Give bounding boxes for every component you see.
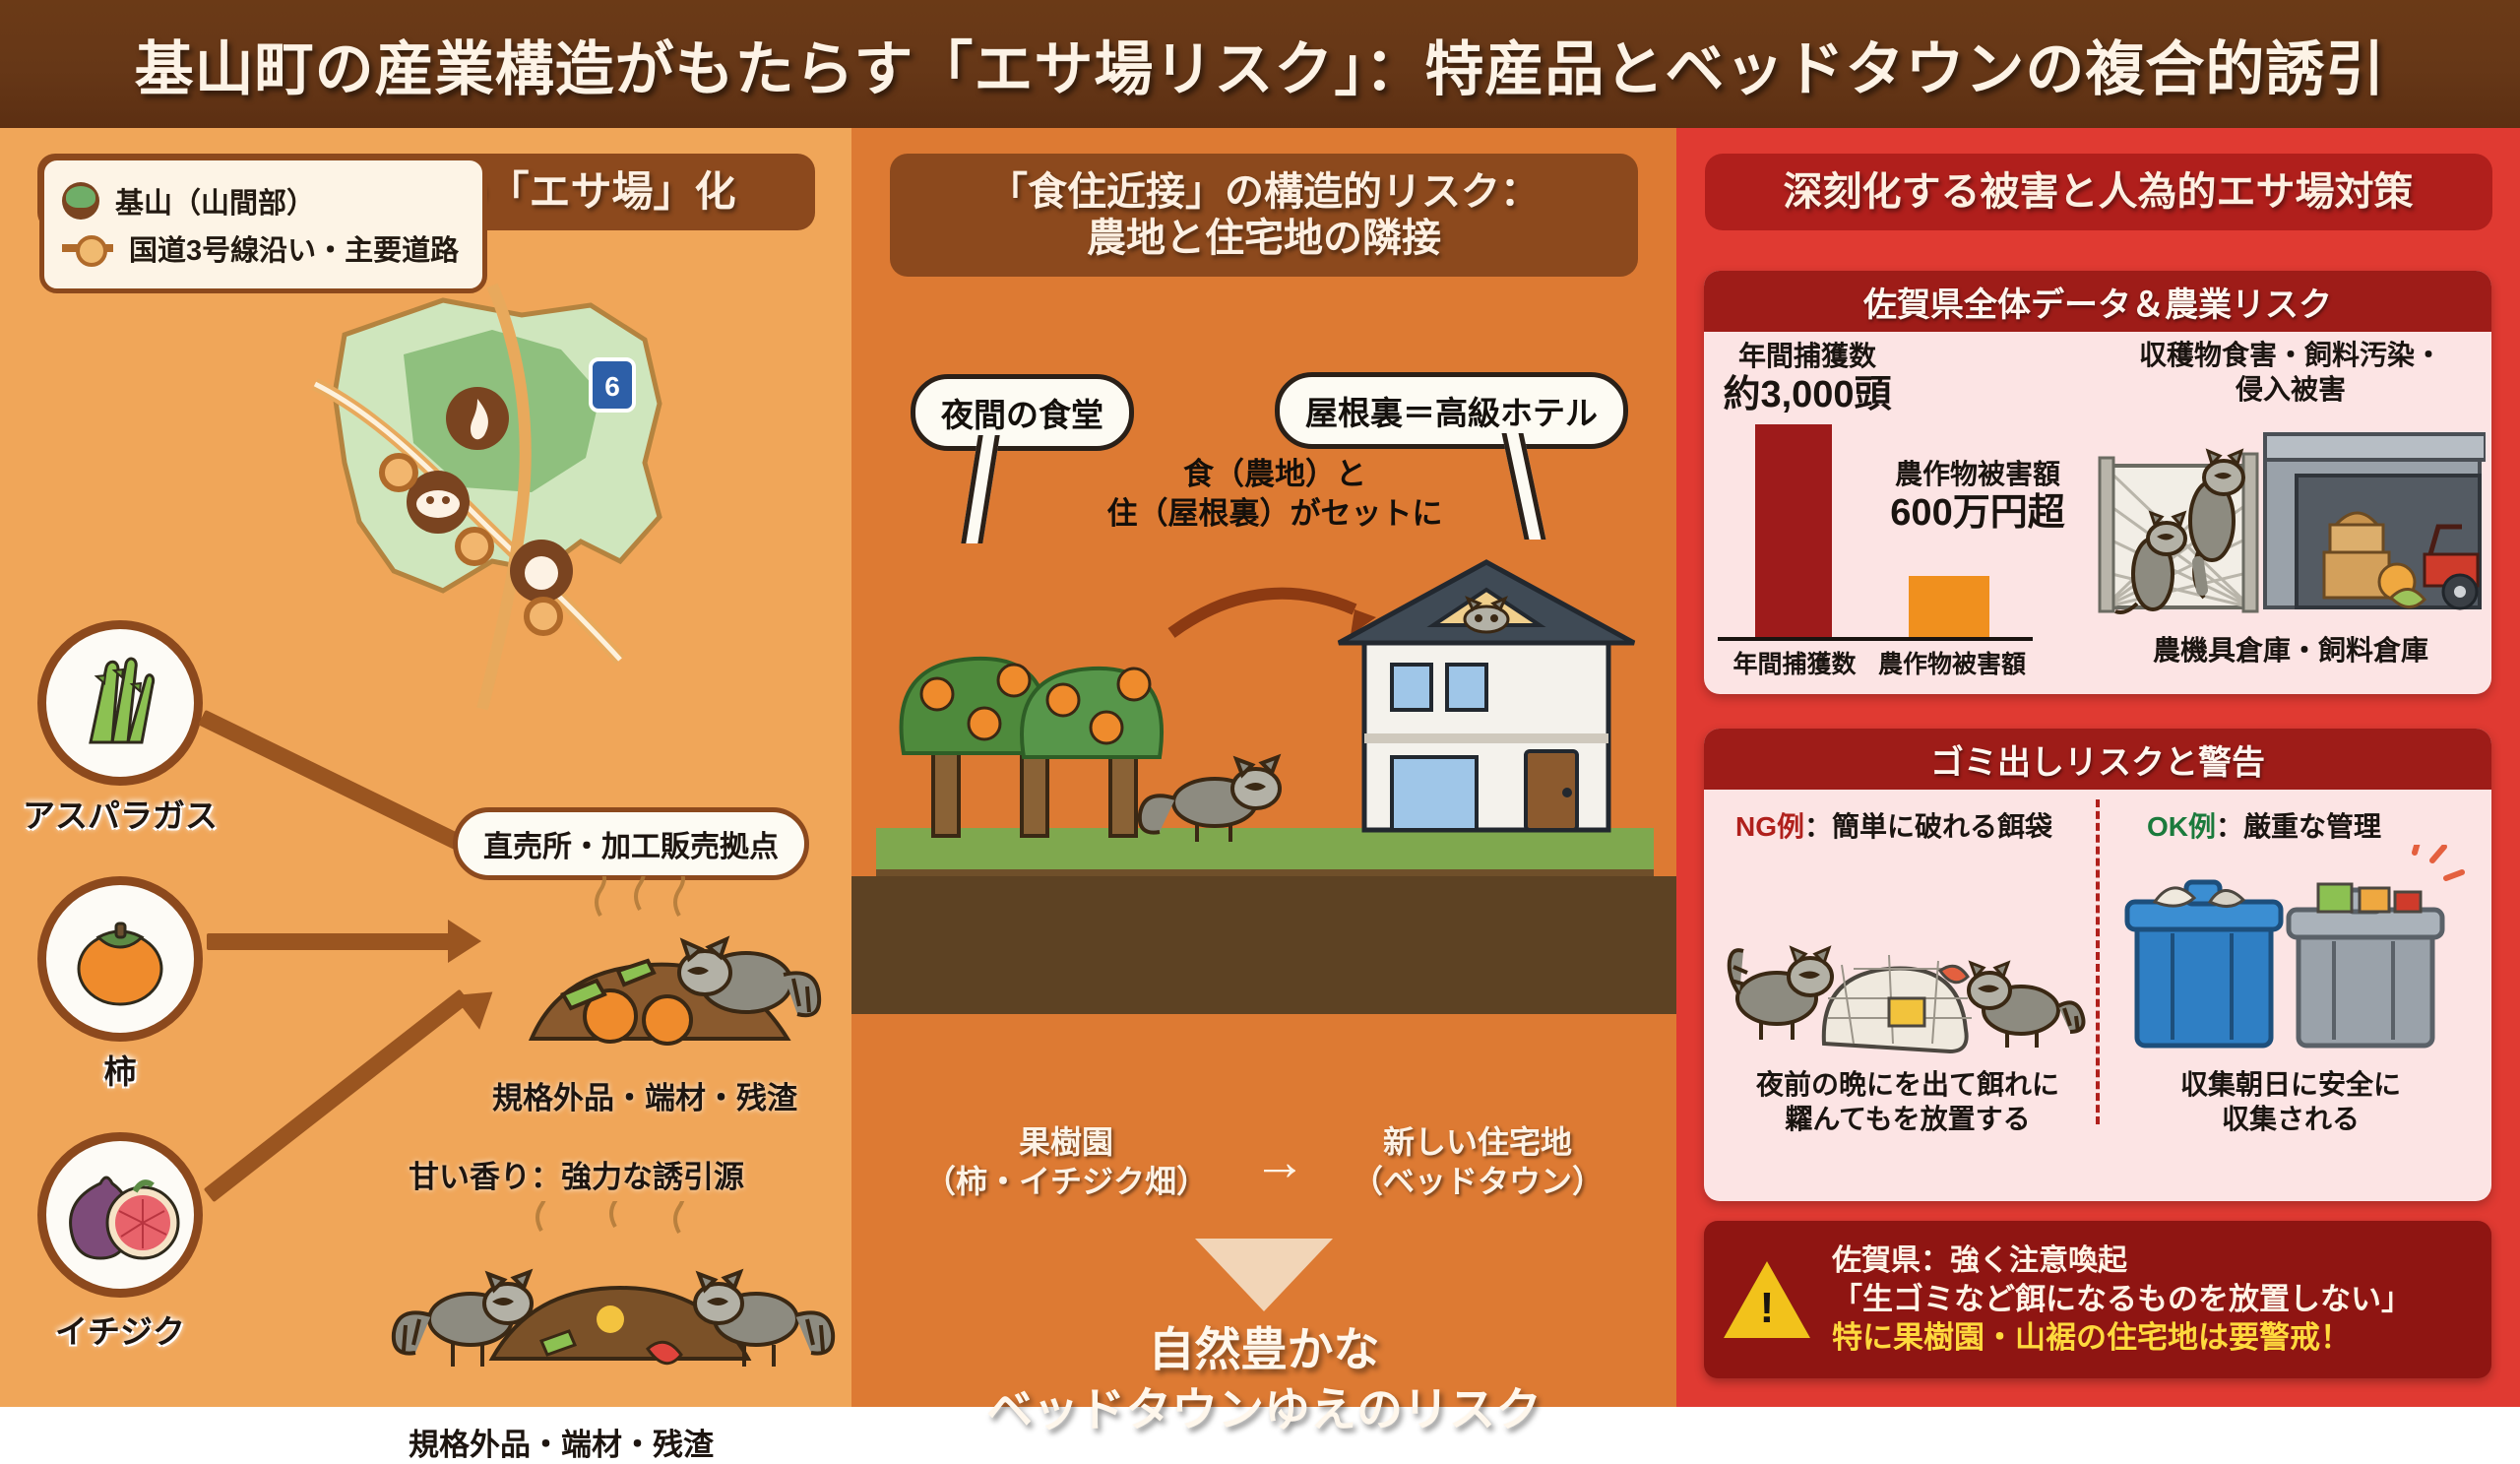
center-note-line1: 食（農地）と	[1102, 455, 1447, 494]
card-garbage-risk: ゴミ出しリスクと警告 NG例：簡単に破れる餌袋 OK例：厳重な管理	[1704, 729, 2491, 1201]
panel-mid-title-line1: 「食住近接」の構造的リスク：	[988, 169, 1540, 215]
arrow-persimmon-to-waste	[207, 933, 453, 950]
road-node-icon	[62, 235, 113, 261]
ok-label: OK例：厳重な管理	[2147, 805, 2381, 845]
bedtown-label-line1: 新しい住宅地	[1352, 1122, 1604, 1162]
bar-chart: 年間捕獲数 約3,000頭 農作物被害額 600万円超 年間捕獲数 農作物被害額	[1704, 332, 2098, 694]
map-svg: 6	[197, 246, 807, 797]
orchard-label-line1: 果樹園	[924, 1122, 1208, 1162]
route-shield: 6	[591, 359, 634, 411]
fruit-label-asparagus: アスパラガス	[7, 790, 233, 837]
warning-text: 佐賀県：強く注意喚起 「生ゴミなど餌になるものを放置しない」 特に果樹園・山裾の…	[1832, 1242, 2412, 1357]
mid-bottom-transition: 果樹園 （柿・イチジク畑） → 新しい住宅地 （ベッドタウン）	[851, 1122, 1676, 1201]
chart-label-capture-value: 約3,000頭	[1714, 373, 1901, 418]
warning-line1: 佐賀県：強く注意喚起	[1832, 1242, 2412, 1280]
bar-damage	[1909, 576, 1989, 637]
ng-caption-line1: 夜前の晩にを出て餌れに	[1726, 1067, 2090, 1102]
svg-text:6: 6	[604, 371, 620, 402]
soil-band	[851, 876, 1676, 1014]
pill-direct-sales: 直売所・加工販売拠点	[453, 807, 809, 880]
panel-right-title: 深刻化する被害と人為的エサ場対策	[1705, 154, 2492, 230]
chart-label-capture-name: 年間捕獲数	[1714, 340, 1901, 373]
map-node	[382, 456, 415, 489]
bar-capture	[1755, 424, 1832, 637]
panel-mid-title: 「食住近接」の構造的リスク： 農地と住宅地の隣接	[890, 154, 1638, 277]
arrow-head	[448, 920, 481, 963]
ng-caption-line2: 糶んてもを放置する	[1726, 1102, 2090, 1136]
panel-mid-title-line2: 農地と住宅地の隣接	[988, 216, 1540, 261]
legend-item: 基山（山間部）	[62, 180, 465, 222]
ok-caption: 収集朝日に安全に 収集される	[2115, 1067, 2466, 1136]
ok-caption-line2: 収集される	[2115, 1102, 2466, 1136]
ok-text: ：厳重な管理	[2216, 811, 2381, 842]
crop-damage-caption-line2: 侵入被害	[2094, 372, 2488, 407]
panel-right: 深刻化する被害と人為的エサ場対策 佐賀県全体データ＆農業リスク 年間捕獲数 約3…	[1676, 128, 2520, 1407]
ng-caption: 夜前の晩にを出て餌れに 糶んてもを放置する	[1726, 1067, 2090, 1136]
orchard-label: 果樹園 （柿・イチジク畑）	[924, 1122, 1208, 1201]
fruit-label-fig: イチジク	[7, 1305, 233, 1353]
mid-conclusion-line1: 自然豊かな	[851, 1319, 1676, 1379]
map-icon-fire	[446, 387, 509, 450]
house-illustration	[1339, 562, 1634, 830]
card-saga-data-body: 年間捕獲数 約3,000頭 農作物被害額 600万円超 年間捕獲数 農作物被害額	[1704, 332, 2491, 694]
kiyama-map: 6	[197, 246, 807, 797]
card-saga-data: 佐賀県全体データ＆農業リスク 年間捕獲数 約3,000頭 農作物被害額 600万…	[1704, 271, 2491, 694]
ng-label: NG例：簡単に破れる餌袋	[1735, 805, 2052, 845]
warning-line2: 「生ゴミなど餌になるものを放置しない」	[1832, 1280, 2412, 1318]
asparagus-icon	[61, 644, 179, 762]
transition-arrow-icon: →	[1253, 1131, 1306, 1192]
ng-key: NG例	[1735, 811, 1804, 842]
orchard-label-line2: （柿・イチジク畑）	[924, 1162, 1208, 1201]
card-garbage-risk-body: NG例：簡単に破れる餌袋 OK例：厳重な管理	[1704, 790, 2491, 1201]
bedtown-label-line2: （ベッドタウン）	[1352, 1162, 1604, 1201]
page-header: 基山町の産業構造がもたらす「エサ場リスク」：特産品とベッドタウンの複合的誘引	[0, 0, 2520, 128]
chart-label-damage: 農作物被害額 600万円超	[1879, 458, 2076, 536]
raccoon-icon	[1730, 948, 1832, 1040]
ok-key: OK例	[2147, 811, 2216, 842]
chart-label-capture: 年間捕獲数 約3,000頭	[1714, 340, 1901, 417]
impact-marks	[2415, 845, 2462, 878]
map-node	[458, 530, 491, 563]
chart-tick-damage: 農作物被害額	[1873, 645, 2031, 680]
fruit-circle-persimmon	[37, 876, 203, 1042]
bin-gray	[2289, 890, 2442, 1046]
legend-item-label: 国道3号線沿い・主要道路	[129, 227, 459, 269]
waste-label-top: 規格外品・端材・残渣	[492, 1073, 797, 1117]
fruit-label-persimmon: 柿	[7, 1046, 233, 1093]
warning-line3: 特に果樹園・山裾の住宅地は要警戒！	[1832, 1318, 2412, 1357]
panel-mid: 「食住近接」の構造的リスク： 農地と住宅地の隣接 夜間の食堂 屋根裏＝高級ホテル…	[851, 128, 1676, 1407]
callout-attic-hotel: 屋根裏＝高級ホテル	[1275, 372, 1628, 449]
mountain-icon	[62, 182, 99, 220]
card-saga-data-heading: 佐賀県全体データ＆農業リスク	[1704, 271, 2491, 332]
callout-night-cafeteria: 夜間の食堂	[911, 374, 1134, 451]
warning-box: 佐賀県：強く注意喚起 「生ゴミなど餌になるものを放置しない」 特に果樹園・山裾の…	[1704, 1221, 2491, 1378]
waste-label-bottom: 規格外品・端材・残渣	[409, 1420, 714, 1464]
page-title: 基山町の産業構造がもたらす「エサ場リスク」：特産品とベッドタウンの複合的誘引	[135, 22, 2386, 107]
fruit-circle-fig	[37, 1132, 203, 1298]
raccoon-icon	[1969, 963, 2084, 1048]
legend-item: 国道3号線沿い・主要道路	[62, 227, 465, 269]
compost-pile-bottom	[384, 1201, 847, 1418]
ok-garbage-scene	[2115, 845, 2466, 1057]
crop-damage-caption-line1: 収穫物食害・飼料汚染・	[2094, 338, 2488, 372]
chart-label-damage-name: 農作物被害額	[1879, 458, 2076, 491]
ok-caption-line1: 収集朝日に安全に	[2115, 1067, 2466, 1102]
bedtown-label: 新しい住宅地 （ベッドタウン）	[1352, 1122, 1604, 1201]
map-legend: 基山（山間部） 国道3号線沿い・主要道路	[39, 156, 487, 293]
arrow-to-house	[1171, 594, 1354, 633]
warehouse-scene	[2096, 414, 2486, 627]
card-garbage-risk-heading: ゴミ出しリスクと警告	[1704, 729, 2491, 790]
legend-item-label: 基山（山間部）	[115, 180, 315, 222]
map-icon-fig	[510, 540, 573, 603]
ng-text: ：簡単に破れる餌袋	[1804, 811, 2052, 842]
fig-icon	[56, 1156, 184, 1274]
panels-container: 特産品と加工拠点の「エサ場」化 6	[0, 128, 2520, 1407]
card-divider	[2096, 799, 2100, 1124]
map-node	[527, 600, 560, 633]
scent-label: 甘い香り：強力な誘引源	[409, 1152, 744, 1196]
warehouse-caption: 農機具倉庫・飼料倉庫	[2094, 633, 2488, 668]
bin-blue	[2127, 882, 2281, 1046]
chart-axis	[1718, 637, 2033, 641]
mid-conclusion-line2: ベッドタウンゆえのリスク	[851, 1379, 1676, 1439]
fruit-circle-asparagus	[37, 620, 203, 786]
orchard-trees	[902, 659, 1163, 836]
chevron-down-icon	[1195, 1239, 1333, 1311]
chart-label-damage-value: 600万円超	[1879, 491, 2076, 537]
persimmon-icon	[61, 900, 179, 1018]
panel-left: 特産品と加工拠点の「エサ場」化 6	[0, 128, 851, 1407]
warning-triangle-icon	[1724, 1261, 1810, 1338]
mid-conclusion: 自然豊かな ベッドタウンゆえのリスク	[851, 1319, 1676, 1439]
compost-pile-top	[492, 876, 837, 1073]
ng-garbage-scene	[1726, 851, 2090, 1057]
crop-damage-caption: 収穫物食害・飼料汚染・ 侵入被害	[2094, 338, 2488, 407]
chart-tick-capture: 年間捕獲数	[1726, 645, 1863, 680]
infographic-root: 基山町の産業構造がもたらす「エサ場リスク」：特産品とベッドタウンの複合的誘引 特…	[0, 0, 2520, 1407]
